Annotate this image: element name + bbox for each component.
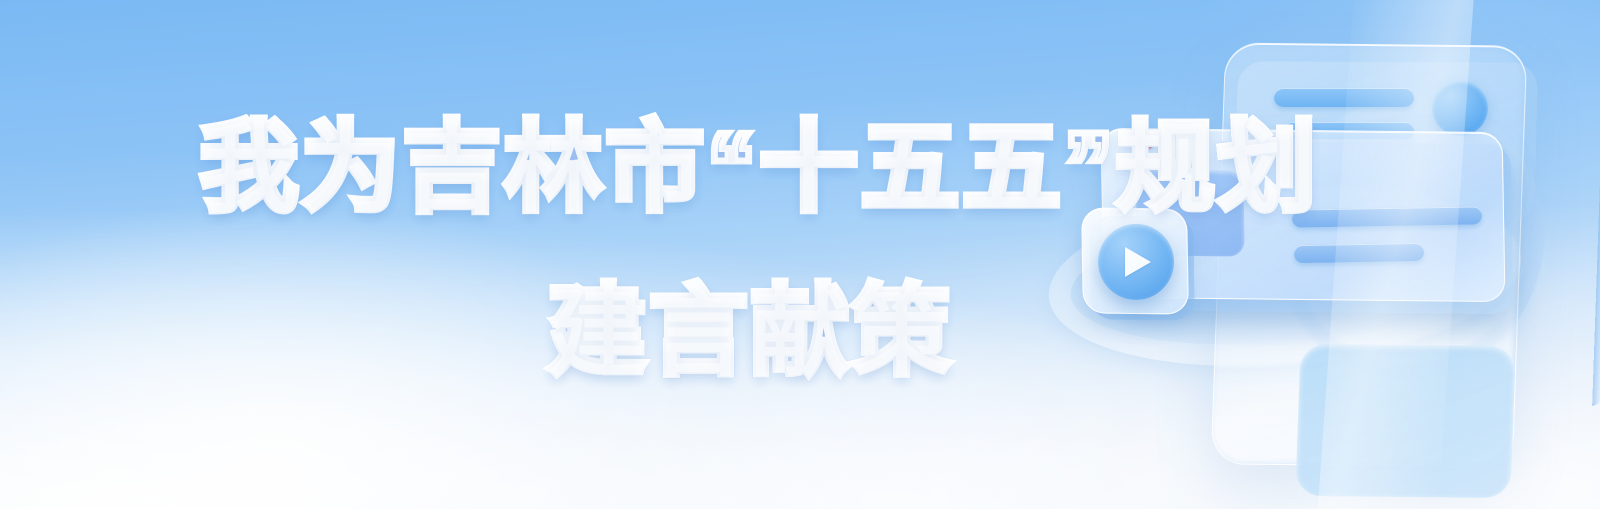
avatar xyxy=(1432,80,1488,136)
background-glow-left xyxy=(0,200,720,509)
tablet-screen-area xyxy=(1295,344,1515,498)
banner-root: 我为吉林市“十五五”规划 我为吉林市“十五五”规划 建言献策 建言献策 xyxy=(0,0,1600,509)
headline-line-2: 建言献策 建言献策 xyxy=(548,282,954,382)
media-text-bar-2 xyxy=(1294,243,1424,263)
media-text-bar-1 xyxy=(1292,206,1482,227)
headline-line-2-stroke: 建言献策 xyxy=(548,276,954,386)
headline-line-2-fill: 建言献策 xyxy=(548,282,954,382)
window-dot-green-icon xyxy=(1176,144,1185,153)
info-text-bar-1 xyxy=(1274,88,1414,107)
window-dot-yellow-icon xyxy=(1160,142,1169,151)
window-dot-red-icon xyxy=(1144,140,1153,149)
play-icon xyxy=(1125,247,1151,277)
tablet-edge xyxy=(1592,14,1600,406)
illustration-group xyxy=(1040,0,1600,509)
